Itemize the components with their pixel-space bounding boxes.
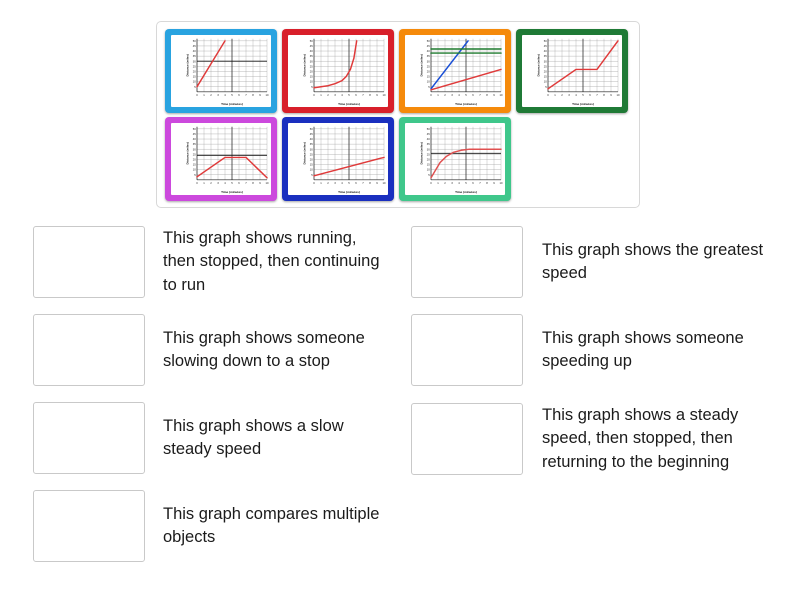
svg-text:5: 5	[465, 93, 467, 97]
svg-text:25: 25	[310, 64, 314, 68]
answer-label: This graph shows someone slowing down to…	[163, 327, 388, 374]
graph-plot: 5101520253035404550012345678910Time (min…	[171, 35, 271, 107]
svg-text:35: 35	[193, 54, 197, 58]
svg-text:0: 0	[313, 181, 315, 185]
svg-text:2: 2	[327, 93, 329, 97]
svg-text:40: 40	[193, 137, 197, 141]
svg-text:7: 7	[479, 93, 481, 97]
answer-label: This graph shows someone speeding up	[542, 327, 781, 374]
svg-text:45: 45	[310, 132, 314, 136]
svg-text:40: 40	[310, 137, 314, 141]
svg-text:20: 20	[310, 158, 314, 162]
svg-text:9: 9	[493, 181, 495, 185]
graph-plot: 5101520253035404550012345678910Time (min…	[288, 123, 388, 195]
svg-text:30: 30	[427, 59, 431, 63]
svg-text:8: 8	[369, 93, 371, 97]
svg-text:6: 6	[472, 181, 474, 185]
svg-text:25: 25	[427, 152, 431, 156]
svg-text:2: 2	[210, 93, 212, 97]
answers-column-left: This graph shows running, then stopped, …	[33, 226, 388, 578]
svg-text:25: 25	[193, 152, 197, 156]
svg-text:Distance (miles): Distance (miles)	[185, 54, 189, 76]
graph-tile-inner: 5101520253035404550012345678910Time (min…	[405, 35, 505, 107]
svg-text:45: 45	[310, 44, 314, 48]
svg-text:Time (minutes): Time (minutes)	[221, 102, 243, 106]
svg-text:30: 30	[310, 147, 314, 151]
svg-text:10: 10	[427, 168, 431, 172]
svg-text:5: 5	[428, 85, 430, 89]
svg-text:Distance (miles): Distance (miles)	[419, 142, 423, 164]
answer-row: This graph shows someone speeding up	[411, 314, 781, 386]
graph-tile-1[interactable]: 5101520253035404550012345678910Time (min…	[165, 29, 277, 113]
svg-text:4: 4	[458, 181, 460, 185]
svg-text:8: 8	[252, 181, 254, 185]
svg-text:5: 5	[582, 93, 584, 97]
graph-plot: 5101520253035404550012345678910Time (min…	[171, 123, 271, 195]
answer-label: This graph shows running, then stopped, …	[163, 227, 388, 297]
svg-text:9: 9	[376, 93, 378, 97]
drop-target-answer-slowing-to-stop[interactable]	[33, 314, 145, 386]
svg-text:9: 9	[493, 93, 495, 97]
svg-text:9: 9	[259, 181, 261, 185]
svg-text:40: 40	[427, 137, 431, 141]
answers-column-right: This graph shows the greatest speedThis …	[411, 226, 781, 491]
svg-text:8: 8	[252, 93, 254, 97]
svg-text:4: 4	[341, 181, 343, 185]
graph-tile-6[interactable]: 5101520253035404550012345678910Time (min…	[282, 117, 394, 201]
svg-text:8: 8	[369, 181, 371, 185]
graph-tile-2[interactable]: 5101520253035404550012345678910Time (min…	[282, 29, 394, 113]
svg-text:7: 7	[479, 181, 481, 185]
svg-text:20: 20	[427, 70, 431, 74]
svg-text:50: 50	[544, 39, 548, 43]
svg-text:3: 3	[334, 93, 336, 97]
svg-text:1: 1	[203, 181, 205, 185]
svg-text:3: 3	[568, 93, 570, 97]
drop-target-answer-compares-multiple[interactable]	[33, 490, 145, 562]
svg-text:50: 50	[427, 39, 431, 43]
svg-text:25: 25	[310, 152, 314, 156]
svg-text:7: 7	[596, 93, 598, 97]
graph-tile-7[interactable]: 5101520253035404550012345678910Time (min…	[399, 117, 511, 201]
svg-text:50: 50	[427, 127, 431, 131]
svg-text:30: 30	[427, 147, 431, 151]
svg-text:5: 5	[311, 173, 313, 177]
svg-text:Distance (miles): Distance (miles)	[536, 54, 540, 76]
svg-text:Time (minutes): Time (minutes)	[455, 190, 477, 194]
svg-text:1: 1	[320, 93, 322, 97]
svg-text:2: 2	[444, 181, 446, 185]
svg-text:50: 50	[310, 127, 314, 131]
drop-target-answer-steady-stop-return[interactable]	[411, 403, 523, 475]
svg-text:10: 10	[427, 80, 431, 84]
svg-text:35: 35	[310, 54, 314, 58]
svg-text:Distance (miles): Distance (miles)	[185, 142, 189, 164]
drop-target-answer-slow-steady-speed[interactable]	[33, 402, 145, 474]
svg-text:30: 30	[310, 59, 314, 63]
svg-text:Time (minutes): Time (minutes)	[572, 102, 594, 106]
svg-text:3: 3	[217, 181, 219, 185]
svg-text:50: 50	[193, 127, 197, 131]
graph-tile-inner: 5101520253035404550012345678910Time (min…	[405, 123, 505, 195]
graph-tile-inner: 5101520253035404550012345678910Time (min…	[288, 123, 388, 195]
graph-plot: 5101520253035404550012345678910Time (min…	[405, 35, 505, 107]
svg-text:35: 35	[427, 142, 431, 146]
svg-text:Time (minutes): Time (minutes)	[338, 190, 360, 194]
svg-text:40: 40	[427, 49, 431, 53]
svg-text:2: 2	[444, 93, 446, 97]
answer-label: This graph shows a steady speed, then st…	[542, 404, 781, 474]
svg-text:10: 10	[310, 168, 314, 172]
svg-text:15: 15	[310, 75, 314, 79]
svg-text:Distance (miles): Distance (miles)	[419, 54, 423, 76]
drop-target-answer-speeding-up[interactable]	[411, 314, 523, 386]
svg-text:10: 10	[500, 93, 504, 97]
graph-tile-inner: 5101520253035404550012345678910Time (min…	[171, 123, 271, 195]
svg-text:5: 5	[545, 85, 547, 89]
svg-text:5: 5	[194, 85, 196, 89]
svg-text:2: 2	[210, 181, 212, 185]
answer-label: This graph shows a slow steady speed	[163, 415, 388, 462]
svg-text:35: 35	[427, 54, 431, 58]
svg-text:35: 35	[193, 142, 197, 146]
svg-text:4: 4	[224, 181, 226, 185]
svg-text:5: 5	[194, 173, 196, 177]
svg-text:10: 10	[266, 181, 270, 185]
graph-tiles-panel: 5101520253035404550012345678910Time (min…	[156, 21, 640, 208]
svg-text:6: 6	[238, 181, 240, 185]
svg-text:10: 10	[310, 80, 314, 84]
svg-text:0: 0	[196, 93, 198, 97]
svg-text:45: 45	[193, 44, 197, 48]
svg-text:15: 15	[193, 75, 197, 79]
svg-text:35: 35	[310, 142, 314, 146]
svg-text:0: 0	[547, 93, 549, 97]
svg-text:25: 25	[427, 64, 431, 68]
svg-text:1: 1	[437, 181, 439, 185]
svg-text:20: 20	[193, 70, 197, 74]
svg-text:1: 1	[437, 93, 439, 97]
answer-row: This graph shows a slow steady speed	[33, 402, 388, 474]
svg-text:8: 8	[486, 93, 488, 97]
svg-text:10: 10	[500, 181, 504, 185]
svg-text:45: 45	[193, 132, 197, 136]
svg-text:4: 4	[224, 93, 226, 97]
svg-text:8: 8	[486, 181, 488, 185]
graph-tile-inner: 5101520253035404550012345678910Time (min…	[171, 35, 271, 107]
svg-text:10: 10	[193, 168, 197, 172]
answer-row: This graph shows someone slowing down to…	[33, 314, 388, 386]
svg-text:50: 50	[193, 39, 197, 43]
svg-text:Distance (miles): Distance (miles)	[302, 142, 306, 164]
svg-text:5: 5	[465, 181, 467, 185]
drop-target-answer-running-stopped-running[interactable]	[33, 226, 145, 298]
svg-text:3: 3	[217, 93, 219, 97]
svg-text:6: 6	[355, 181, 357, 185]
svg-text:6: 6	[238, 93, 240, 97]
svg-text:25: 25	[193, 64, 197, 68]
svg-text:2: 2	[327, 181, 329, 185]
graph-tile-inner: 5101520253035404550012345678910Time (min…	[522, 35, 622, 107]
svg-text:20: 20	[193, 158, 197, 162]
svg-text:0: 0	[313, 93, 315, 97]
svg-text:3: 3	[334, 181, 336, 185]
svg-text:9: 9	[376, 181, 378, 185]
svg-text:10: 10	[193, 80, 197, 84]
answer-label: This graph shows the greatest speed	[542, 239, 781, 286]
svg-text:40: 40	[310, 49, 314, 53]
graph-plot: 5101520253035404550012345678910Time (min…	[522, 35, 622, 107]
svg-text:4: 4	[341, 93, 343, 97]
svg-text:Time (minutes): Time (minutes)	[221, 190, 243, 194]
svg-text:15: 15	[310, 163, 314, 167]
svg-text:8: 8	[603, 93, 605, 97]
svg-text:5: 5	[348, 181, 350, 185]
svg-text:15: 15	[193, 163, 197, 167]
svg-text:1: 1	[554, 93, 556, 97]
svg-text:6: 6	[355, 93, 357, 97]
graph-plot: 5101520253035404550012345678910Time (min…	[288, 35, 388, 107]
svg-text:5: 5	[231, 181, 233, 185]
svg-text:40: 40	[193, 49, 197, 53]
svg-text:5: 5	[231, 93, 233, 97]
graph-tile-5[interactable]: 5101520253035404550012345678910Time (min…	[165, 117, 277, 201]
svg-text:9: 9	[259, 93, 261, 97]
answer-label: This graph compares multiple objects	[163, 503, 388, 550]
answer-row: This graph shows the greatest speed	[411, 226, 781, 298]
graph-plot: 5101520253035404550012345678910Time (min…	[405, 123, 505, 195]
svg-text:10: 10	[266, 93, 270, 97]
svg-text:4: 4	[458, 93, 460, 97]
svg-text:9: 9	[610, 93, 612, 97]
svg-text:1: 1	[203, 93, 205, 97]
svg-text:30: 30	[544, 59, 548, 63]
svg-text:15: 15	[544, 75, 548, 79]
svg-text:15: 15	[427, 75, 431, 79]
svg-text:15: 15	[427, 163, 431, 167]
graph-tile-3[interactable]: 5101520253035404550012345678910Time (min…	[399, 29, 511, 113]
svg-text:3: 3	[451, 181, 453, 185]
svg-text:5: 5	[311, 85, 313, 89]
svg-text:7: 7	[362, 181, 364, 185]
svg-text:25: 25	[544, 64, 548, 68]
svg-text:1: 1	[320, 181, 322, 185]
svg-text:20: 20	[427, 158, 431, 162]
answer-row: This graph compares multiple objects	[33, 490, 388, 562]
svg-text:20: 20	[544, 70, 548, 74]
svg-text:6: 6	[589, 93, 591, 97]
svg-text:20: 20	[310, 70, 314, 74]
svg-text:2: 2	[561, 93, 563, 97]
svg-text:30: 30	[193, 59, 197, 63]
svg-text:0: 0	[430, 181, 432, 185]
svg-text:10: 10	[617, 93, 621, 97]
graph-tiles-grid: 5101520253035404550012345678910Time (min…	[165, 29, 631, 201]
svg-text:10: 10	[383, 181, 387, 185]
svg-text:5: 5	[428, 173, 430, 177]
svg-text:7: 7	[245, 93, 247, 97]
svg-text:6: 6	[472, 93, 474, 97]
svg-text:10: 10	[383, 93, 387, 97]
svg-text:7: 7	[362, 93, 364, 97]
svg-text:50: 50	[310, 39, 314, 43]
svg-text:4: 4	[575, 93, 577, 97]
svg-text:40: 40	[544, 49, 548, 53]
svg-text:0: 0	[196, 181, 198, 185]
drop-target-answer-greatest-speed[interactable]	[411, 226, 523, 298]
graph-tile-inner: 5101520253035404550012345678910Time (min…	[288, 35, 388, 107]
svg-text:30: 30	[193, 147, 197, 151]
svg-text:0: 0	[430, 93, 432, 97]
svg-text:3: 3	[451, 93, 453, 97]
answer-row: This graph shows running, then stopped, …	[33, 226, 388, 298]
svg-text:10: 10	[544, 80, 548, 84]
svg-text:35: 35	[544, 54, 548, 58]
answer-row: This graph shows a steady speed, then st…	[411, 403, 781, 475]
svg-text:45: 45	[427, 44, 431, 48]
svg-text:Distance (miles): Distance (miles)	[302, 54, 306, 76]
svg-text:Time (minutes): Time (minutes)	[338, 102, 360, 106]
svg-text:5: 5	[348, 93, 350, 97]
graph-tile-4[interactable]: 5101520253035404550012345678910Time (min…	[516, 29, 628, 113]
svg-text:45: 45	[544, 44, 548, 48]
svg-text:45: 45	[427, 132, 431, 136]
svg-text:Time (minutes): Time (minutes)	[455, 102, 477, 106]
svg-text:7: 7	[245, 181, 247, 185]
